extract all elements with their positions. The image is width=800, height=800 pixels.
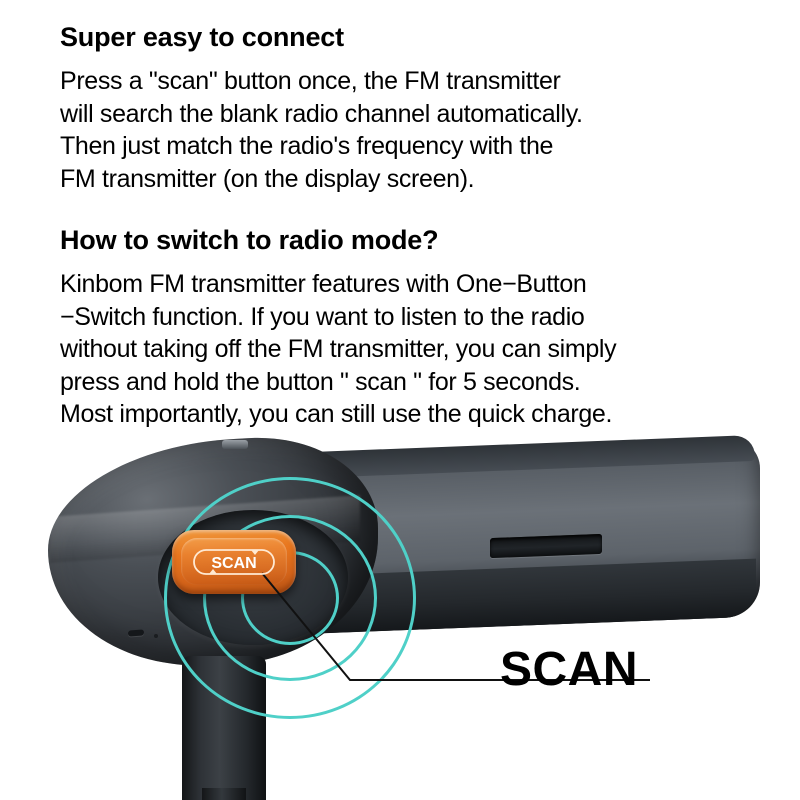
heading-super-easy-to-connect: Super easy to connect <box>60 22 760 53</box>
article-text: Super easy to connect Press a "scan" but… <box>0 0 800 431</box>
paragraph-radio-mode-instructions: Kinbom FM transmitter features with One−… <box>60 268 760 431</box>
paragraph-connect-instructions: Press a "scan" button once, the FM trans… <box>60 65 760 195</box>
callout-label-scan: SCAN <box>500 646 638 694</box>
heading-how-to-switch-radio-mode: How to switch to radio mode? <box>60 225 760 256</box>
callout-leader-line <box>0 418 800 800</box>
scan-loop-arrow-icon: SCAN <box>191 547 277 577</box>
scan-button-label: SCAN <box>211 555 256 572</box>
product-photo: SCAN SCAN <box>0 418 800 800</box>
